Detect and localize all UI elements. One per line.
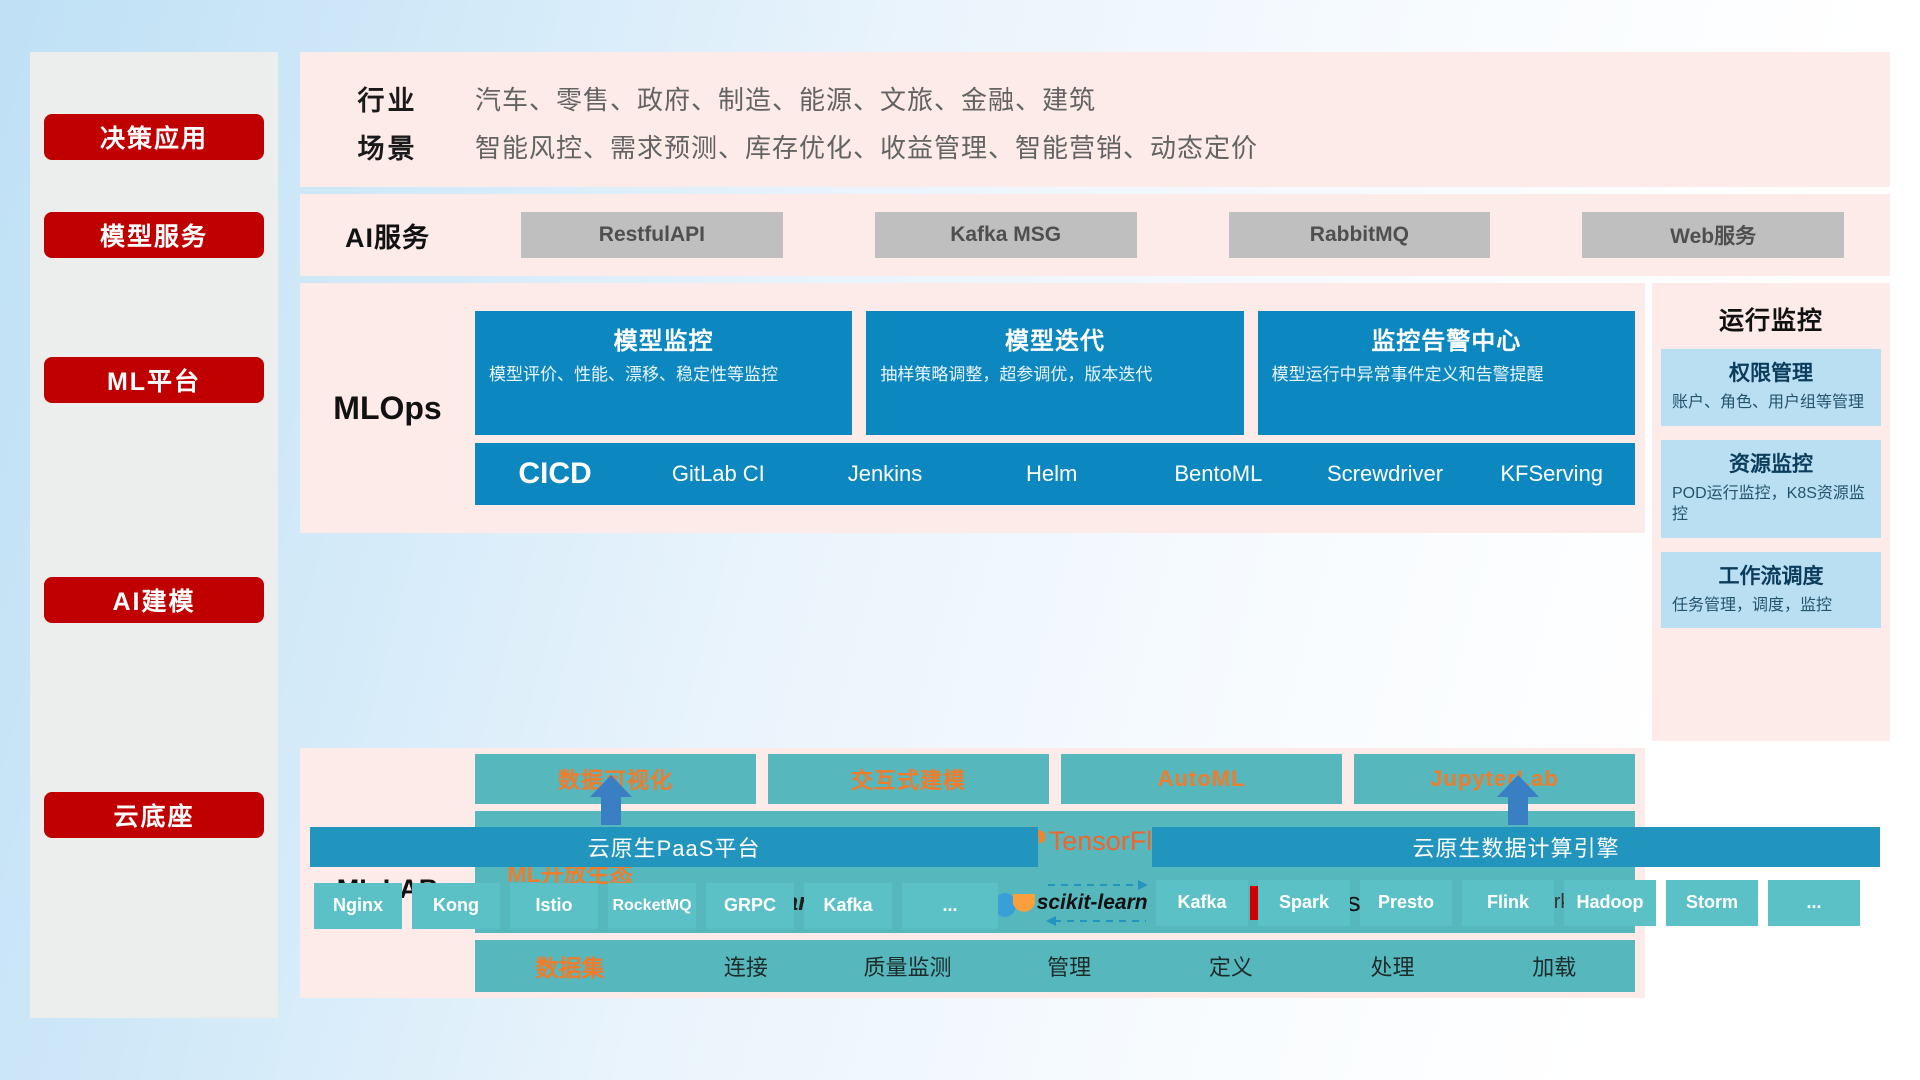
- engine-chip-kafka[interactable]: Kafka: [1156, 880, 1248, 926]
- cicd-item-screwdriver[interactable]: Screwdriver: [1302, 459, 1469, 489]
- cicd-item-jenkins[interactable]: Jenkins: [802, 459, 969, 489]
- stage-pill-ml-platform[interactable]: ML平台: [44, 357, 264, 403]
- runtime-monitor-column: 运行监控 权限管理 账户、角色、用户组等管理 资源监控 POD运行监控，K8S资…: [1652, 283, 1890, 741]
- ai-service-chip-rabbitmq[interactable]: RabbitMQ: [1229, 212, 1491, 258]
- card-title: 权限管理: [1672, 357, 1870, 387]
- paas-chip-istio[interactable]: Istio: [510, 883, 598, 929]
- stage-label: 决策应用: [100, 119, 208, 155]
- cicd-item-helm[interactable]: Helm: [968, 459, 1135, 489]
- ai-service-chip-restfulapi[interactable]: RestfulAPI: [521, 212, 783, 258]
- paas-up-arrow-icon: [588, 775, 634, 825]
- paas-chip-rocketmq[interactable]: RocketMQ: [608, 883, 696, 929]
- card-title: 资源监控: [1672, 448, 1870, 478]
- card-desc: 账户、角色、用户组等管理: [1672, 392, 1870, 414]
- engine-up-arrow-icon: [1495, 775, 1541, 825]
- industry-row: 行业 汽车、零售、政府、制造、能源、文旅、金融、建筑: [300, 74, 1890, 122]
- stage-pill-model-service[interactable]: 模型服务: [44, 212, 264, 258]
- card-desc: 任务管理，调度，监控: [1672, 595, 1870, 617]
- paas-chip-nginx[interactable]: Nginx: [314, 883, 402, 929]
- cicd-item-kfserving[interactable]: KFServing: [1468, 459, 1635, 489]
- ai-service-chip-kafka-msg[interactable]: Kafka MSG: [875, 212, 1137, 258]
- mlops-band: MLOps 模型监控 模型评价、性能、漂移、稳定性等监控 模型迭代 抽样策略调整…: [300, 283, 1645, 533]
- paas-chip-more[interactable]: ...: [902, 883, 998, 929]
- ai-service-label: AI服务: [300, 216, 475, 255]
- data-engine-bar[interactable]: 云原生数据计算引擎: [1152, 827, 1880, 867]
- card-desc: 模型评价、性能、漂移、稳定性等监控: [489, 364, 838, 387]
- card-desc: POD运行监控，K8S资源监控: [1672, 483, 1870, 526]
- mlops-card-list: 模型监控 模型评价、性能、漂移、稳定性等监控 模型迭代 抽样策略调整，超参调优，…: [475, 311, 1635, 435]
- decision-apps-band: 行业 汽车、零售、政府、制造、能源、文旅、金融、建筑 场景 智能风控、需求预测、…: [300, 52, 1890, 187]
- card-title: 模型迭代: [880, 321, 1229, 356]
- card-title: 模型监控: [489, 321, 838, 356]
- scenario-label: 场景: [300, 127, 475, 166]
- stage-pill-ai-modeling[interactable]: AI建模: [44, 577, 264, 623]
- monitor-card-resource[interactable]: 资源监控 POD运行监控，K8S资源监控: [1661, 440, 1881, 538]
- engine-chip-presto[interactable]: Presto: [1360, 880, 1452, 926]
- card-desc: 模型运行中异常事件定义和告警提醒: [1272, 364, 1621, 387]
- mlops-card-model-iteration[interactable]: 模型迭代 抽样策略调整，超参调优，版本迭代: [866, 311, 1243, 435]
- stage-label: 云底座: [113, 797, 194, 833]
- card-title: 监控告警中心: [1272, 321, 1621, 356]
- cloud-base-section: 云原生PaaS平台 Nginx Kong Istio RocketMQ GRPC…: [300, 785, 1890, 1075]
- stage-pill-decision[interactable]: 决策应用: [44, 114, 264, 160]
- cicd-item-bentoml[interactable]: BentoML: [1135, 459, 1302, 489]
- paas-chip-grpc[interactable]: GRPC: [706, 883, 794, 929]
- card-title: 工作流调度: [1672, 560, 1870, 590]
- stage-rail: 决策应用 模型服务 ML平台 AI建模 云底座: [30, 52, 278, 1018]
- runtime-monitor-title: 运行监控: [1661, 301, 1881, 337]
- cicd-title: CICD: [475, 457, 635, 491]
- engine-chip-list: Kafka Spark Presto Flink Hadoop Storm ..…: [1156, 880, 1878, 926]
- engine-chip-more[interactable]: ...: [1768, 880, 1860, 926]
- data-engine-title: 云原生数据计算引擎: [1412, 831, 1619, 863]
- paas-platform-bar[interactable]: 云原生PaaS平台: [310, 827, 1038, 867]
- stage-label: ML平台: [107, 362, 201, 398]
- monitor-card-permission[interactable]: 权限管理 账户、角色、用户组等管理: [1661, 349, 1881, 426]
- paas-chip-kong[interactable]: Kong: [412, 883, 500, 929]
- paas-chip-list: Nginx Kong Istio RocketMQ GRPC Kafka ...: [314, 883, 1034, 929]
- mlops-card-alert-center[interactable]: 监控告警中心 模型运行中异常事件定义和告警提醒: [1258, 311, 1635, 435]
- industry-value: 汽车、零售、政府、制造、能源、文旅、金融、建筑: [475, 80, 1096, 117]
- stage-pill-cloud-base[interactable]: 云底座: [44, 792, 264, 838]
- ai-service-chip-list: RestfulAPI Kafka MSG RabbitMQ Web服务: [475, 212, 1890, 258]
- dashed-connector-icon: [1044, 877, 1150, 937]
- cicd-item-gitlab-ci[interactable]: GitLab CI: [635, 459, 802, 489]
- ai-service-band: AI服务 RestfulAPI Kafka MSG RabbitMQ Web服务: [300, 194, 1890, 276]
- mlops-label: MLOps: [300, 390, 475, 427]
- paas-chip-kafka[interactable]: Kafka: [804, 883, 892, 929]
- engine-chip-storm[interactable]: Storm: [1666, 880, 1758, 926]
- scenario-value: 智能风控、需求预测、库存优化、收益管理、智能营销、动态定价: [475, 128, 1258, 165]
- stage-label: 模型服务: [100, 217, 208, 253]
- industry-label: 行业: [300, 79, 475, 118]
- card-desc: 抽样策略调整，超参调优，版本迭代: [880, 364, 1229, 387]
- cicd-bar: CICD GitLab CI Jenkins Helm BentoML Scre…: [475, 443, 1635, 505]
- scenario-row: 场景 智能风控、需求预测、库存优化、收益管理、智能营销、动态定价: [300, 122, 1890, 170]
- stage-label: AI建模: [112, 582, 195, 618]
- paas-platform-title: 云原生PaaS平台: [588, 831, 761, 863]
- engine-chip-spark[interactable]: Spark: [1258, 880, 1350, 926]
- ai-service-chip-web-service[interactable]: Web服务: [1582, 212, 1844, 258]
- mlops-card-model-monitoring[interactable]: 模型监控 模型评价、性能、漂移、稳定性等监控: [475, 311, 852, 435]
- engine-chip-flink[interactable]: Flink: [1462, 880, 1554, 926]
- engine-chip-hadoop[interactable]: Hadoop: [1564, 880, 1656, 926]
- monitor-card-workflow[interactable]: 工作流调度 任务管理，调度，监控: [1661, 552, 1881, 629]
- ml-platform-row: MLOps 模型监控 模型评价、性能、漂移、稳定性等监控 模型迭代 抽样策略调整…: [300, 283, 1890, 741]
